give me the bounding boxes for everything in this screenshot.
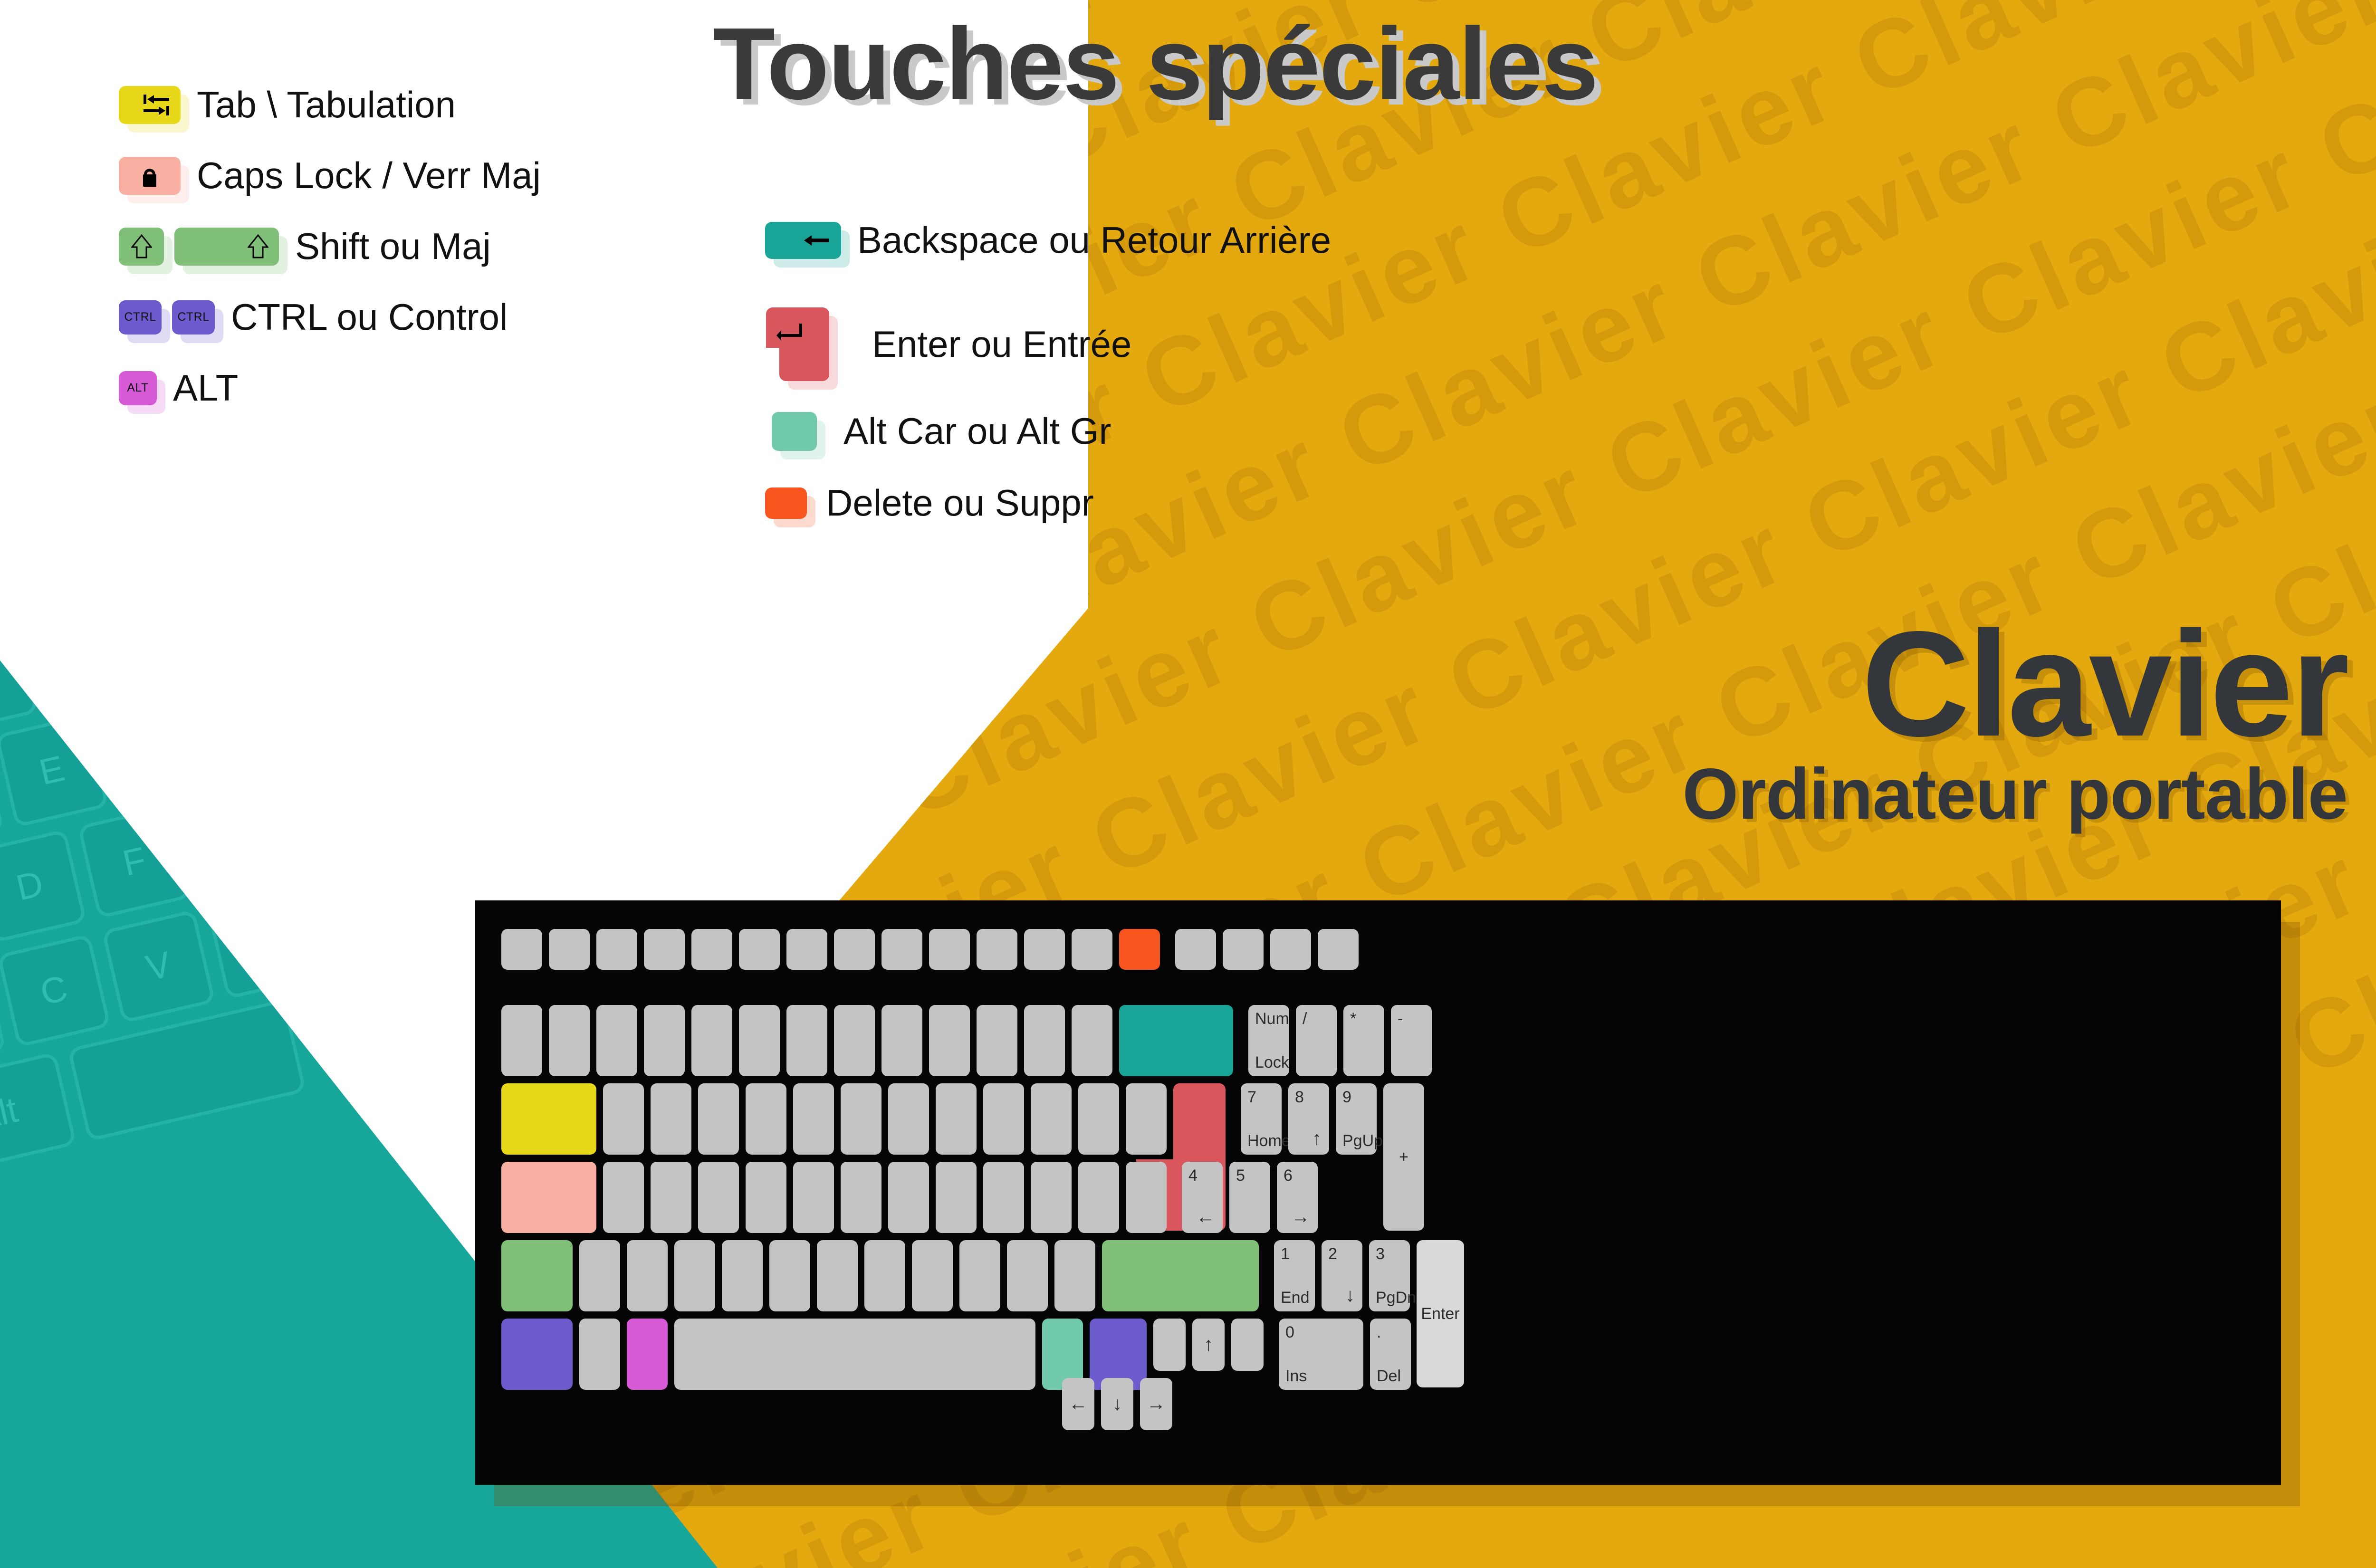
keyboard-key[interactable] [1024, 1005, 1065, 1076]
numpad-0-key[interactable]: 0Ins [1279, 1319, 1363, 1390]
page-title: Touches spéciales [713, 5, 1598, 123]
keyboard-row-number-row: NumLock/*- [501, 1005, 1438, 1076]
faint-key-d: D [0, 829, 87, 943]
keyboard-key[interactable] [929, 1005, 970, 1076]
faint-key-f6: F6 [214, 443, 328, 557]
keyboard-key[interactable] [549, 929, 590, 970]
keyboard-key[interactable] [959, 1240, 1000, 1311]
legend-key-enter [779, 307, 829, 381]
legend-label-delete: Delete ou Suppr [826, 481, 1094, 525]
keyboard-key[interactable] [1078, 1162, 1119, 1233]
legend-key-backspace [765, 222, 841, 259]
tab-key[interactable] [501, 1083, 596, 1155]
keyboard-key[interactable] [1175, 929, 1216, 970]
numpad-4-key[interactable]: 4← [1182, 1162, 1223, 1233]
key-label-primary: 6 [1284, 1167, 1293, 1184]
keyboard-key[interactable] [1054, 1240, 1095, 1311]
legend-key-delete [765, 488, 807, 519]
faint-key-f3: F3 [0, 515, 14, 629]
numpad-3-key[interactable]: 3PgDn [1369, 1240, 1410, 1311]
faint-key-e: E [0, 714, 109, 828]
lock-icon [139, 164, 160, 188]
enter-arrow-icon [773, 316, 803, 350]
key-label-primary: Num [1255, 1011, 1289, 1027]
tab-icon [143, 93, 170, 117]
keyboard-key[interactable] [1072, 929, 1112, 970]
keyboard-key[interactable] [888, 1083, 929, 1155]
key-label-primary: Enter [1417, 1306, 1464, 1322]
keyboard-key[interactable] [1270, 929, 1311, 970]
keyboard-row-asdf-row: 4←56→ [501, 1162, 1324, 1233]
numpad-divide-key[interactable]: / [1296, 1005, 1337, 1076]
faint-key-f5: F5 [110, 467, 224, 581]
faint-key-alt: Alt [0, 1052, 77, 1176]
keyboard-key[interactable] [841, 1083, 881, 1155]
legend-label-alt: ALT [173, 366, 238, 410]
keyboard-key[interactable] [501, 1005, 542, 1076]
keyboard-key[interactable] [651, 1083, 691, 1155]
faint-key-r: R [100, 689, 214, 803]
legend-key-shift-large [174, 228, 279, 266]
key-label-primary: 1 [1281, 1246, 1290, 1262]
keyboard-key[interactable] [691, 929, 732, 970]
left-arrow-icon [802, 232, 831, 249]
faint-key-b: B [206, 885, 320, 999]
numpad-decimal-key[interactable]: .Del [1370, 1319, 1411, 1390]
key-label-primary: 7 [1247, 1089, 1256, 1105]
key-label-primary: 3 [1376, 1246, 1385, 1262]
numpad-1-key[interactable]: 1End [1274, 1240, 1315, 1311]
keyboard-key[interactable] [1126, 1162, 1167, 1233]
faint-key-4: $4 [29, 596, 143, 710]
arrow-up-icon: ↑ [1192, 1335, 1225, 1355]
key-label-secondary: End [1281, 1290, 1310, 1306]
key-label-primary: 8 [1295, 1089, 1304, 1105]
legend-keys: CTRL CTRL [119, 300, 215, 335]
keyboard-key[interactable] [769, 1240, 810, 1311]
legend-item-enter: Enter ou Entrée [765, 307, 1331, 381]
brand-subtitle: Ordinateur portable [1682, 758, 2347, 830]
keyboard-key[interactable] [881, 929, 922, 970]
keyboard-key[interactable] [936, 1162, 977, 1233]
legend-keys [765, 488, 807, 519]
brand-title: Clavier [1682, 613, 2347, 755]
keyboard-key[interactable] [834, 1005, 875, 1076]
arrow-left-icon: ← [1196, 1207, 1215, 1226]
legend-key-ctrl-right: CTRL [172, 300, 215, 335]
key-label-primary: 4 [1188, 1167, 1198, 1184]
arrow-right-key[interactable]: → [1140, 1378, 1172, 1430]
legend-keys [772, 412, 817, 451]
keyboard-row-arrow-row: ←↓→ [501, 1378, 1179, 1430]
key-label-primary: * [1350, 1011, 1356, 1027]
keyboard-key[interactable] [929, 929, 970, 970]
legend-key-shift-small [119, 228, 164, 266]
keyboard-key[interactable] [1072, 1005, 1112, 1076]
shift-up-arrow-icon [248, 234, 268, 259]
keyboard-key[interactable] [888, 1162, 929, 1233]
legend-key-ctrl-left: CTRL [119, 300, 162, 335]
arrow-down-icon: ↓ [1345, 1286, 1355, 1305]
keyboard-key[interactable] [698, 1083, 739, 1155]
shift-up-arrow-icon [131, 234, 152, 259]
faint-key-v: V [102, 909, 216, 1023]
keyboard-key[interactable] [983, 1083, 1024, 1155]
keyboard-key[interactable] [739, 1005, 780, 1076]
keyboard-key[interactable] [834, 929, 875, 970]
legend-keys [779, 307, 829, 381]
faint-key-y: Y [309, 641, 423, 755]
arrow-up-key[interactable]: ↑ [1192, 1319, 1225, 1371]
legend-label-backspace: Backspace ou Retour Arrière [857, 219, 1331, 262]
key-label-secondary: PgDn [1376, 1290, 1416, 1306]
arrow-right-icon: → [1291, 1207, 1310, 1226]
keyboard-key[interactable] [1231, 1319, 1264, 1371]
key-label-primary: + [1383, 1149, 1424, 1165]
keyboard-key[interactable] [841, 1162, 881, 1233]
keyboard-key[interactable] [746, 1162, 786, 1233]
brand-block: Clavier Ordinateur portable [1682, 613, 2347, 830]
key-label-primary: 5 [1236, 1167, 1245, 1184]
numpad-7-key[interactable]: 7Home [1241, 1083, 1282, 1155]
arrow-right-icon: → [1140, 1395, 1172, 1414]
ctrl-key-label: CTRL [177, 310, 209, 324]
faint-key-t: T [204, 665, 318, 779]
legend-item-capslock: Caps Lock / Verr Maj [119, 154, 541, 197]
faint-key-c: C [0, 934, 111, 1048]
keyboard-key[interactable] [579, 1240, 620, 1311]
keyboard-key[interactable] [674, 1240, 715, 1311]
delete-key[interactable] [1119, 929, 1160, 970]
keyboard-key[interactable] [1153, 1319, 1186, 1371]
legend-left-column: Tab \ Tabulation Caps Lock / Verr Maj [119, 83, 541, 437]
keyboard-key[interactable] [698, 1162, 739, 1233]
legend-item-shift: Shift ou Maj [119, 225, 541, 268]
keyboard-key[interactable] [627, 1240, 668, 1311]
keyboard-key[interactable] [881, 1005, 922, 1076]
keyboard-key[interactable] [739, 929, 780, 970]
left-shift-key[interactable] [501, 1240, 573, 1311]
numpad-plus-key[interactable]: + [1383, 1083, 1424, 1231]
key-label-secondary: Del [1377, 1368, 1401, 1384]
keyboard-key[interactable] [977, 1005, 1017, 1076]
keyboard-key[interactable] [786, 929, 827, 970]
numpad-6-key[interactable]: 6→ [1277, 1162, 1318, 1233]
keyboard-key[interactable] [596, 929, 637, 970]
keyboard-key[interactable] [722, 1240, 763, 1311]
keyboard-key[interactable] [651, 1162, 691, 1233]
legend-label-ctrl: CTRL ou Control [231, 296, 508, 339]
legend-keys [119, 86, 181, 124]
legend-key-tab [119, 86, 181, 124]
keyboard-key[interactable] [793, 1083, 834, 1155]
legend-label-shift: Shift ou Maj [295, 225, 491, 268]
key-label-primary: 2 [1328, 1246, 1337, 1262]
key-label-secondary: Lock [1255, 1054, 1289, 1071]
numpad-2-key[interactable]: 2↓ [1322, 1240, 1362, 1311]
keyboard-key[interactable] [1031, 1083, 1072, 1155]
key-label-primary: / [1303, 1011, 1307, 1027]
legend-right-column: Backspace ou Retour Arrière Enter ou Ent… [765, 219, 1331, 552]
keyboard-illustration: NumLock/*-7Home8↑9PgUp+4←56→1End2↓3PgDnE… [475, 900, 2281, 1485]
faint-key-f4: F4 [5, 491, 119, 605]
legend-label-capslock: Caps Lock / Verr Maj [197, 154, 541, 197]
keyboard-keys-area: NumLock/*-7Home8↑9PgUp+4←56→1End2↓3PgDnE… [501, 929, 2255, 1456]
numpad-9-key[interactable]: 9PgUp [1336, 1083, 1377, 1155]
numlock-key[interactable]: NumLock [1248, 1005, 1289, 1076]
key-label-secondary: Ins [1285, 1368, 1307, 1384]
legend-key-alt: ALT [119, 371, 157, 405]
legend-label-enter: Enter ou Entrée [872, 323, 1131, 366]
keyboard-key[interactable] [1126, 1083, 1167, 1155]
arrow-left-key[interactable]: ← [1062, 1378, 1094, 1430]
legend-label-tab: Tab \ Tabulation [197, 83, 456, 126]
infographic-stage: Clavier Clavier Clavier Clavier Clavier … [0, 0, 2376, 1568]
keyboard-key[interactable] [912, 1240, 953, 1311]
legend-label-altgr: Alt Car ou Alt Gr [843, 410, 1111, 453]
arrow-down-key[interactable]: ↓ [1101, 1378, 1133, 1430]
faint-key-5: %5 [134, 572, 248, 686]
numpad-8-key[interactable]: 8↑ [1288, 1083, 1329, 1155]
keyboard-key[interactable] [603, 1083, 644, 1155]
faint-key-6: ^6 [239, 547, 353, 661]
keyboard-key[interactable] [983, 1162, 1024, 1233]
key-label-secondary: PgUp [1342, 1133, 1383, 1149]
arrow-down-icon: ↓ [1101, 1395, 1133, 1414]
faint-key-f: F [77, 805, 192, 919]
legend-item-alt: ALT ALT [119, 366, 541, 410]
keyboard-key[interactable] [864, 1240, 905, 1311]
arrow-left-icon: ← [1062, 1395, 1094, 1414]
legend-item-delete: Delete ou Suppr [765, 481, 1331, 525]
numpad-5-key[interactable]: 5 [1229, 1162, 1270, 1233]
arrow-up-icon: ↑ [1312, 1129, 1322, 1148]
legend-keys [119, 228, 279, 266]
key-label-primary: - [1398, 1011, 1403, 1027]
ctrl-key-label: CTRL [124, 310, 156, 324]
keyboard-key[interactable] [793, 1162, 834, 1233]
numpad-enter-key[interactable]: Enter [1417, 1240, 1464, 1387]
keyboard-key[interactable] [1318, 929, 1359, 970]
keyboard-key[interactable] [549, 1005, 590, 1076]
keyboard-key[interactable] [1031, 1162, 1072, 1233]
right-shift-key[interactable] [1102, 1240, 1259, 1311]
key-label-primary: 9 [1342, 1089, 1351, 1105]
key-label-primary: 0 [1285, 1324, 1294, 1340]
legend-item-tab: Tab \ Tabulation [119, 83, 541, 126]
legend-keys [765, 222, 841, 259]
key-label-secondary: Home [1247, 1133, 1291, 1149]
legend-item-backspace: Backspace ou Retour Arrière [765, 219, 1331, 262]
keyboard-key[interactable] [1024, 929, 1065, 970]
keyboard-key[interactable] [786, 1005, 827, 1076]
keyboard-key[interactable] [1078, 1083, 1119, 1155]
keyboard-key[interactable] [596, 1005, 637, 1076]
keyboard-key[interactable] [644, 929, 685, 970]
faint-key-h: H [287, 756, 401, 870]
keyboard-key[interactable] [603, 1162, 644, 1233]
legend-item-ctrl: CTRL CTRL CTRL ou Control [119, 296, 541, 339]
capslock-key[interactable] [501, 1162, 596, 1233]
keyboard-row-function-row [501, 929, 1365, 970]
numpad-minus-key[interactable]: - [1391, 1005, 1432, 1076]
faint-key-n: N [311, 861, 425, 975]
alt-key-label: ALT [127, 381, 149, 395]
legend-keys: ALT [119, 371, 157, 405]
keyboard-key[interactable] [691, 1005, 732, 1076]
key-label-primary: . [1377, 1324, 1381, 1340]
keyboard-key[interactable] [936, 1083, 977, 1155]
keyboard-key[interactable] [817, 1240, 858, 1311]
keyboard-key[interactable] [1223, 929, 1264, 970]
keyboard-key[interactable] [746, 1083, 786, 1155]
faint-key-g: G [182, 781, 296, 895]
keyboard-key[interactable] [644, 1005, 685, 1076]
numpad-multiply-key[interactable]: * [1343, 1005, 1384, 1076]
legend-item-altgr: Alt Car ou Alt Gr [765, 410, 1331, 453]
backspace-key[interactable] [1119, 1005, 1233, 1076]
legend-key-altgr [772, 412, 817, 451]
faint-key-3: £3 [0, 620, 38, 734]
keyboard-key[interactable] [501, 929, 542, 970]
legend-keys [119, 157, 181, 195]
keyboard-key[interactable] [977, 929, 1017, 970]
keyboard-key[interactable] [1007, 1240, 1048, 1311]
legend-key-capslock [119, 157, 181, 195]
